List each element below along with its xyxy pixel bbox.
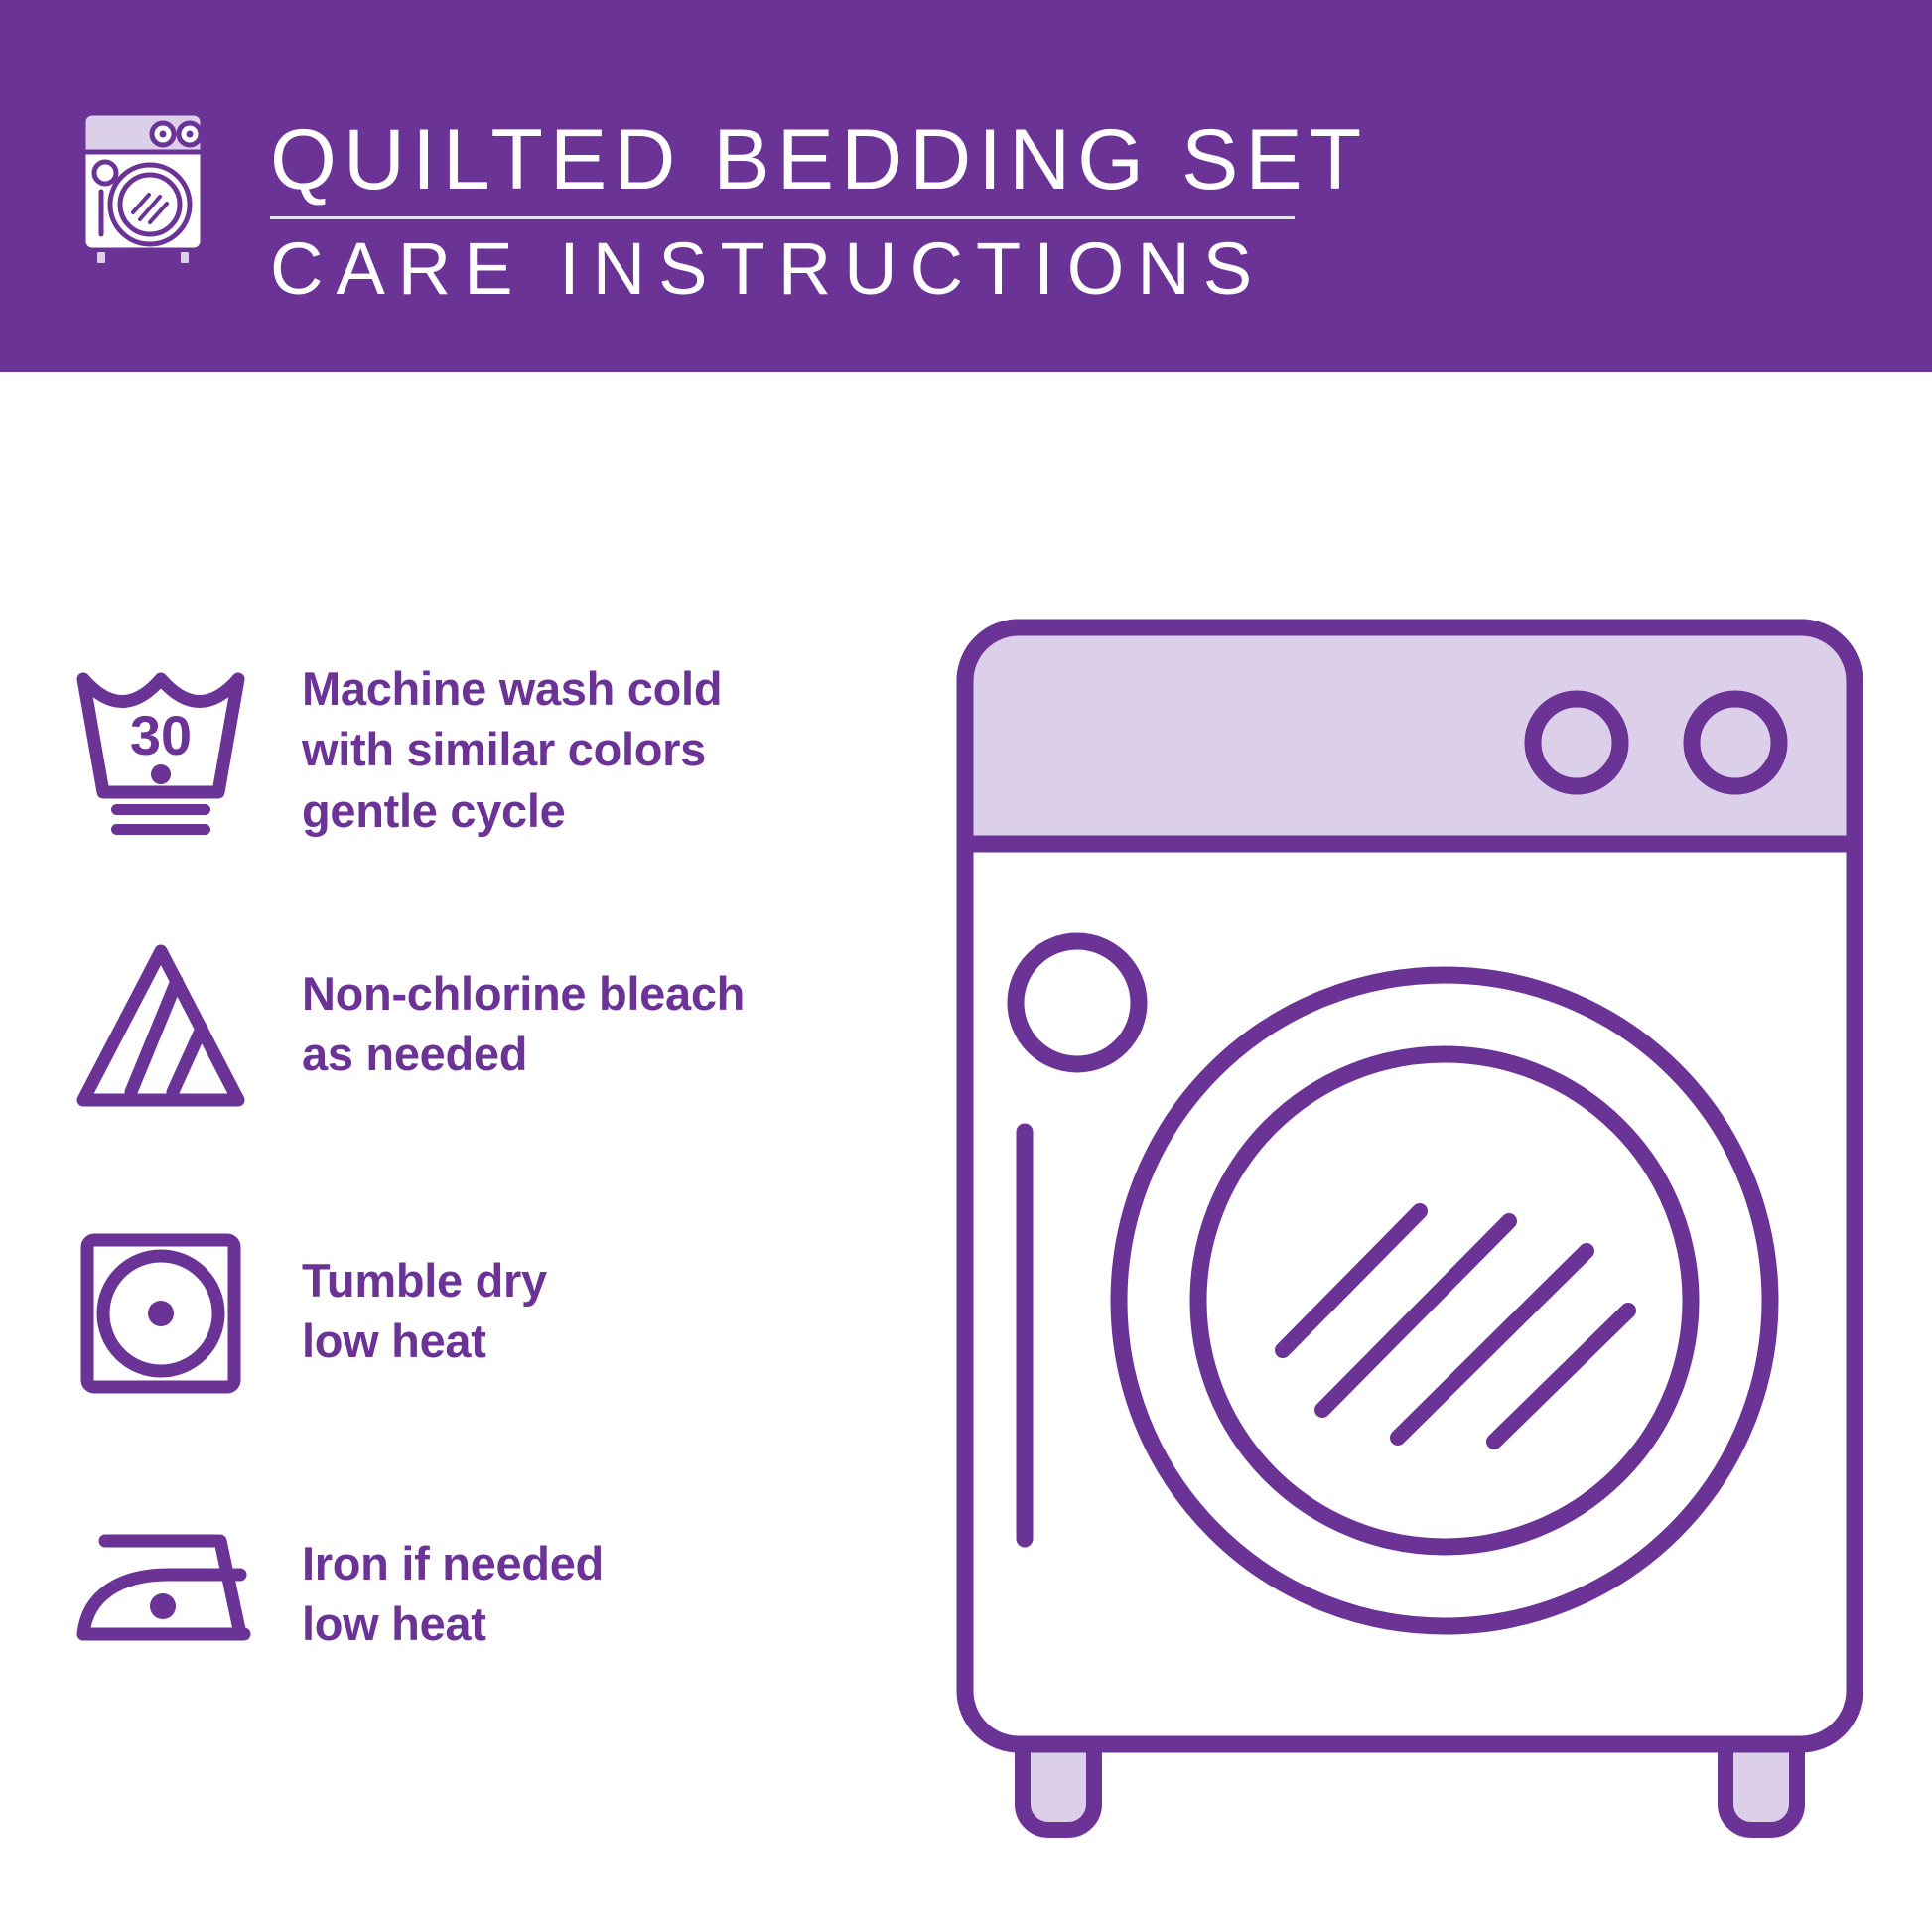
care-item-tumble-dry: Tumble dry low heat <box>0 1216 953 1405</box>
care-item-label: Machine wash cold with similar colors ge… <box>302 658 722 840</box>
washing-machine-icon <box>77 107 208 268</box>
care-item-label: Tumble dry low heat <box>302 1250 547 1371</box>
header-band: QUILTED BEDDING SET CARE INSTRUCTIONS <box>0 0 1932 372</box>
tumble-dry-low-icon <box>69 1216 278 1405</box>
care-item-machine-wash: 30 Machine wash cold with similar colors… <box>0 655 953 844</box>
care-text-line: Iron if needed <box>302 1533 604 1593</box>
care-item-label: Non-chlorine bleach as needed <box>302 963 745 1084</box>
care-item-iron: Iron if needed low heat <box>0 1499 953 1688</box>
care-text-line: Tumble dry <box>302 1250 547 1311</box>
care-text-line: gentle cycle <box>302 780 722 841</box>
washing-machine-illustration <box>953 616 1866 1866</box>
drum-inner-ring <box>1198 1054 1691 1547</box>
iron-low-heat-icon <box>69 1499 278 1688</box>
non-chlorine-bleach-triangle-icon <box>69 929 278 1118</box>
care-item-bleach: Non-chlorine bleach as needed <box>0 929 953 1118</box>
care-item-label: Iron if needed low heat <box>302 1533 604 1654</box>
care-text-line: low heat <box>302 1593 604 1654</box>
control-knob-right <box>1692 699 1779 786</box>
care-text-line: low heat <box>302 1311 547 1371</box>
control-knob-left <box>1533 699 1620 786</box>
machine-wash-30-gentle-icon: 30 <box>69 655 278 844</box>
header-text-block: QUILTED BEDDING SET CARE INSTRUCTIONS <box>270 117 1322 309</box>
care-text-line: with similar colors <box>302 719 722 779</box>
page-title: QUILTED BEDDING SET <box>270 117 1322 203</box>
care-text-line: Non-chlorine bleach <box>302 963 745 1024</box>
care-text-line: as needed <box>302 1024 745 1084</box>
title-divider <box>270 216 1295 219</box>
care-text-line: Machine wash cold <box>302 658 722 719</box>
wash-temp-label: 30 <box>130 704 192 766</box>
page-subtitle: CARE INSTRUCTIONS <box>270 229 1322 309</box>
detergent-port <box>1016 941 1139 1064</box>
